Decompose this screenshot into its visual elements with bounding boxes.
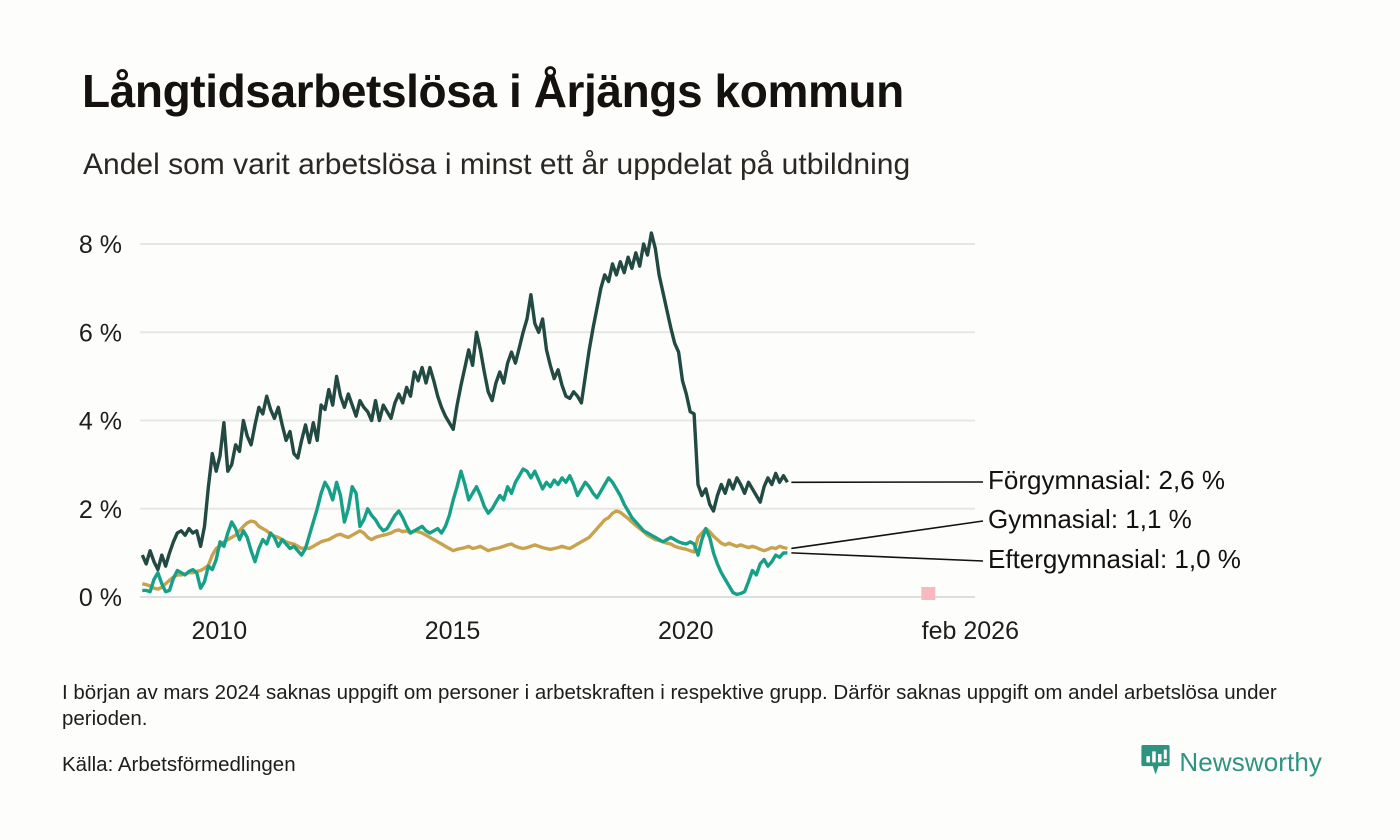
- zero-floor-marker: [921, 587, 935, 600]
- newsworthy-logo-text: Newsworthy: [1179, 747, 1322, 778]
- x-axis-tick-labels: 201020152020feb 2026: [191, 617, 1019, 645]
- line-chart-svg: 0 %2 %4 %6 %8 % 201020152020feb 2026 För…: [0, 0, 1400, 700]
- source-credit: Källa: Arbetsförmedlingen: [62, 753, 296, 777]
- footnote: I början av mars 2024 saknas uppgift om …: [62, 680, 1297, 731]
- x-axis-tick-label: 2020: [658, 617, 714, 645]
- y-axis-tick-label: 6 %: [79, 319, 122, 347]
- y-axis-tick-labels: 0 %2 %4 %6 %8 %: [79, 231, 122, 612]
- newsworthy-bar-chart-icon: [1141, 744, 1170, 781]
- chart-page: Långtidsarbetslösa i Årjängs kommun Ande…: [0, 0, 1400, 840]
- x-axis-tick-label: feb 2026: [922, 617, 1019, 645]
- zero-annotation-marker: [921, 587, 935, 600]
- y-axis-tick-label: 2 %: [79, 496, 122, 524]
- series-label-gymnasial: Gymnasial: 1,1 %: [988, 504, 1192, 534]
- x-axis-tick-label: 2015: [425, 617, 481, 645]
- series-label-eftergymnasial: Eftergymnasial: 1,0 %: [988, 544, 1241, 574]
- y-axis-tick-label: 8 %: [79, 231, 122, 259]
- series-end-labels: Förgymnasial: 2,6 %Gymnasial: 1,1 %Efter…: [988, 465, 1241, 574]
- data-series-lines: [142, 233, 787, 594]
- series-line-gymnasial: [142, 511, 787, 589]
- leader-line: [791, 553, 983, 561]
- x-axis-tick-label: 2010: [191, 617, 247, 645]
- series-line-förgymnasial: [142, 233, 787, 570]
- series-leader-lines: [791, 482, 983, 561]
- leader-line: [791, 521, 983, 548]
- newsworthy-logo[interactable]: Newsworthy: [1141, 744, 1322, 781]
- y-axis-tick-label: 0 %: [79, 584, 122, 612]
- y-axis-tick-label: 4 %: [79, 408, 122, 436]
- series-label-förgymnasial: Förgymnasial: 2,6 %: [988, 465, 1225, 495]
